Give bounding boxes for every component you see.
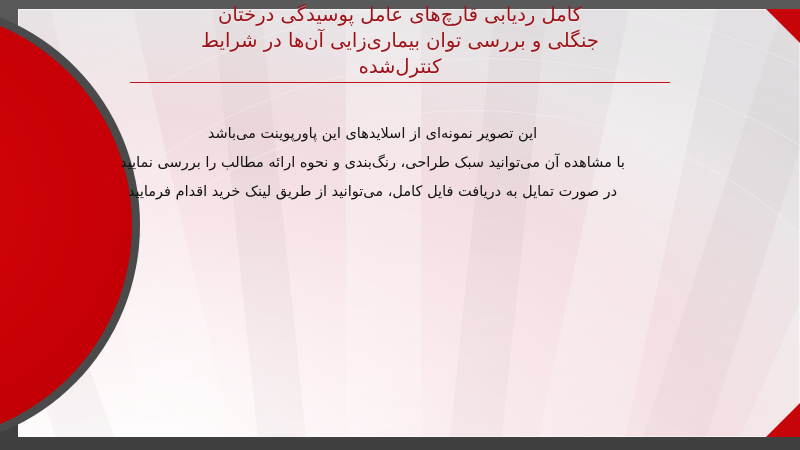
body-line-2: با مشاهده آن می‌توانید سبک طراحی، رنگ‌بن… [60, 149, 685, 178]
body-line-3: در صورت تمایل به دریافت فایل کامل، می‌تو… [60, 178, 685, 207]
title-line-2: جنگلی و بررسی توان بیماری‌زایی آن‌ها در … [120, 28, 680, 54]
corner-triangle-top-right-icon [766, 9, 800, 43]
body-line-1: این تصویر نمونه‌ای از اسلایدهای این پاور… [60, 120, 685, 149]
corner-triangle-bottom-right-icon [766, 403, 800, 437]
presentation-slide: کامل ردیابی قارچ‌های عامل پوسیدگی درختان… [0, 0, 800, 450]
slide-body-text: این تصویر نمونه‌ای از اسلایدهای این پاور… [60, 120, 685, 207]
title-divider-rule [130, 82, 670, 83]
title-line-3: کنترل‌شده [120, 54, 680, 80]
slide-title: کامل ردیابی قارچ‌های عامل پوسیدگی درختان… [120, 2, 680, 80]
title-line-1: کامل ردیابی قارچ‌های عامل پوسیدگی درختان [120, 2, 680, 28]
